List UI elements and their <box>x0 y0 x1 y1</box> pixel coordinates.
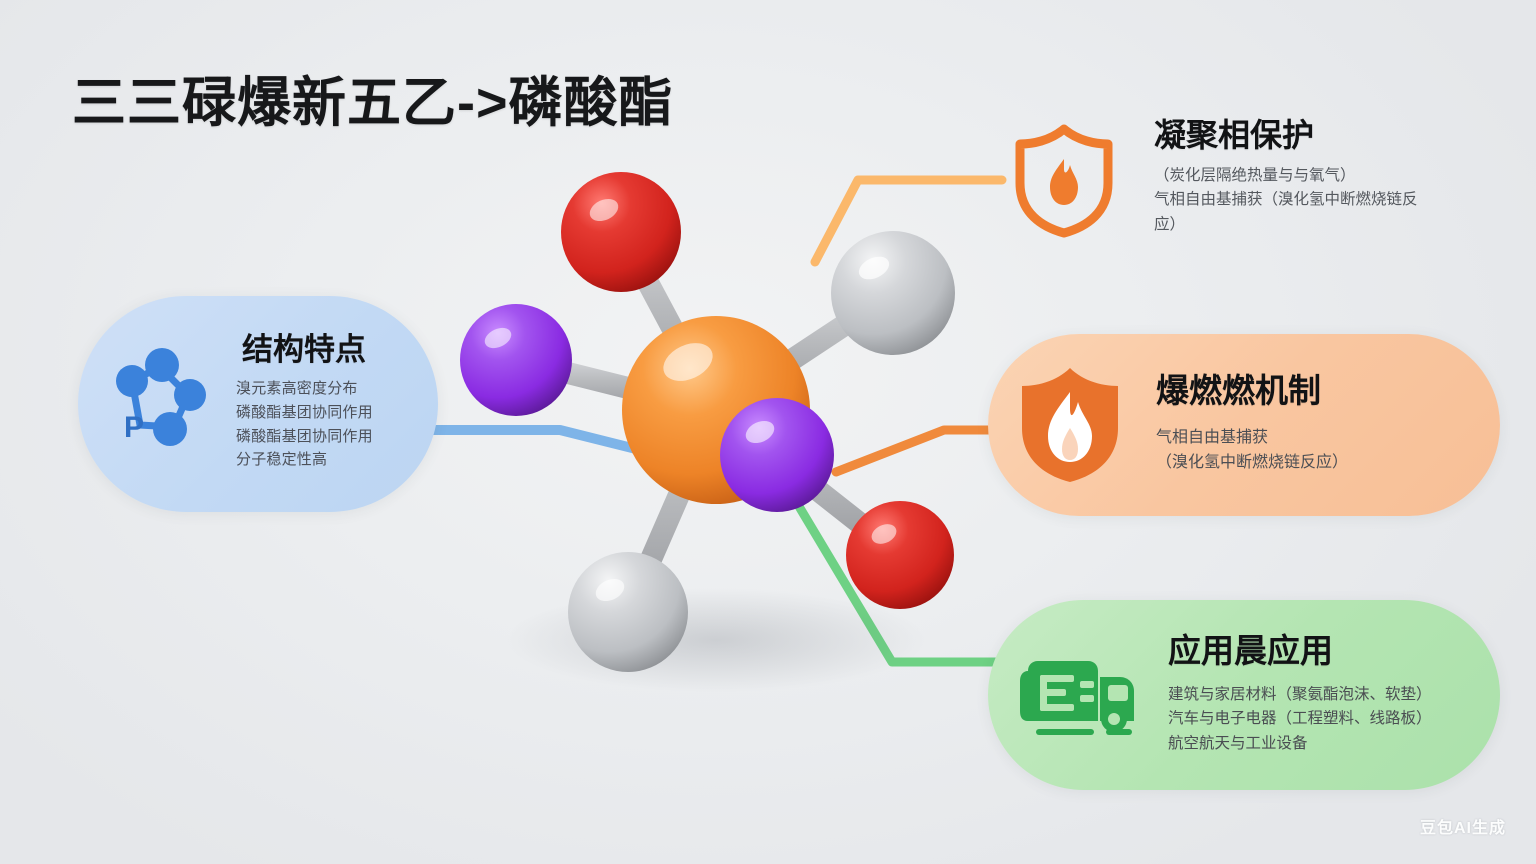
atom-purple-left <box>460 304 572 416</box>
atom-gray-topright <box>831 231 955 355</box>
atom-purple-front <box>720 398 834 512</box>
molecule-3d-illustration <box>0 0 1536 864</box>
atom-red-right <box>846 501 954 609</box>
infographic-canvas: 三三碌爆新五乙->磷酸酯 <box>0 0 1536 864</box>
atom-red-top <box>561 172 681 292</box>
ai-watermark: 豆包AI生成 <box>1420 814 1506 838</box>
atom-gray-bottom <box>568 552 688 672</box>
